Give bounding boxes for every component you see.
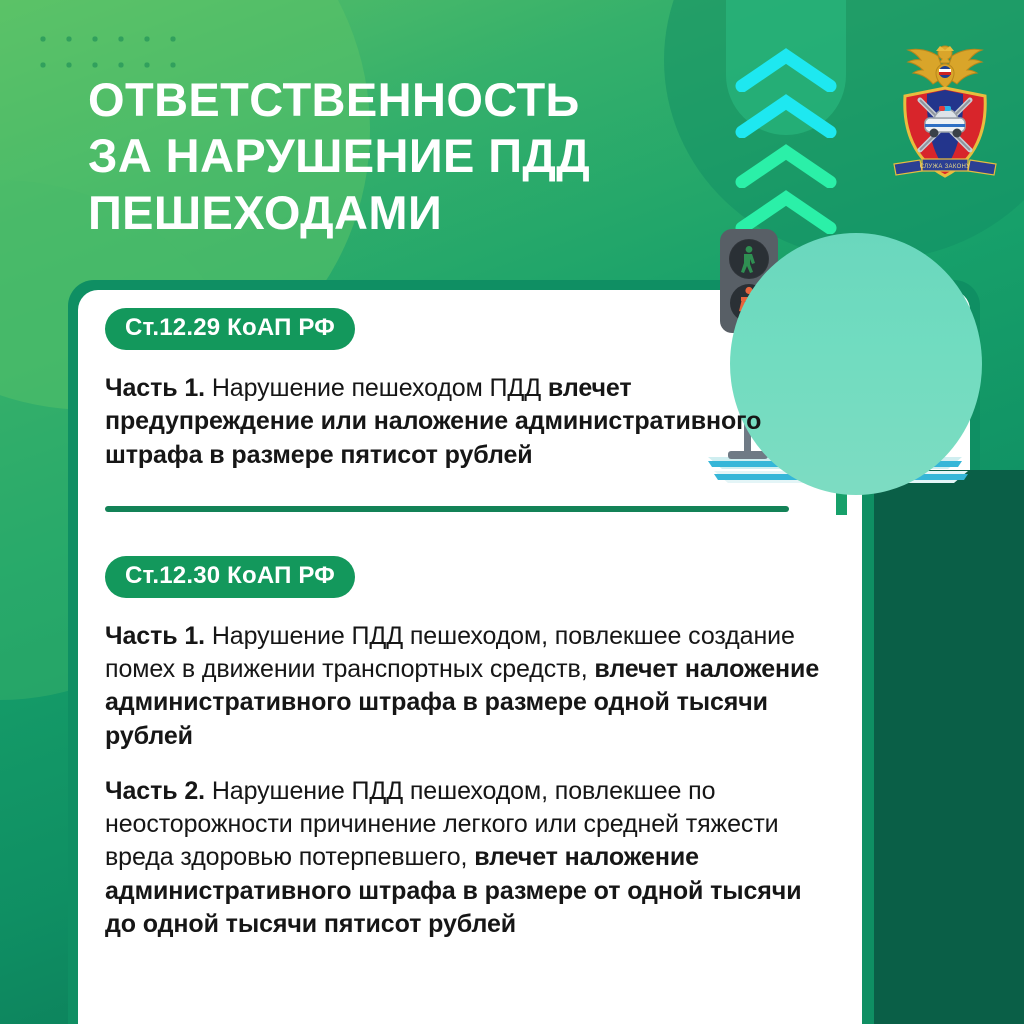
- content-card-notch-edge: [862, 470, 874, 1024]
- paragraph-12-30-part-1: Часть 1. Нарушение ПДД пешеходом, повлек…: [105, 620, 835, 753]
- chevron-up-icon-1: [726, 48, 846, 88]
- article-badge-12-29: Ст.12.29 КоАП РФ: [105, 308, 355, 350]
- svg-text:СЛУЖА ЗАКОНУ: СЛУЖА ЗАКОНУ: [920, 164, 971, 170]
- paragraph-lead: Часть 1.: [105, 622, 205, 650]
- title-line-2: ЗА НАРУШЕНИЕ ПДД: [88, 128, 738, 184]
- title-line-1: ОТВЕТСТВЕННОСТЬ: [88, 72, 738, 128]
- paragraph-12-30-part-2: Часть 2. Нарушение ПДД пешеходом, повлек…: [105, 775, 835, 941]
- content-card-notch: [862, 470, 1024, 1024]
- section-st-12-30: Ст.12.30 КоАП РФ Часть 1. Нарушение ПДД …: [105, 556, 835, 941]
- paragraph-12-29-part-1: Часть 1. Нарушение пешеходом ПДД влечет …: [105, 372, 835, 472]
- page-title: ОТВЕТСТВЕННОСТЬ ЗА НАРУШЕНИЕ ПДД ПЕШЕХОД…: [88, 72, 738, 241]
- paragraph-lead: Часть 1.: [105, 374, 205, 402]
- chevron-up-icon-3: [726, 144, 846, 184]
- gibdd-emblem-icon: СЛУЖА ЗАКОНУ: [884, 38, 1006, 188]
- section-st-12-29: Ст.12.29 КоАП РФ Часть 1. Нарушение пеше…: [105, 308, 835, 472]
- chevron-arrow-group: [726, 48, 846, 238]
- infographic-poster: СЛУЖА ЗАКОНУ: [0, 0, 1024, 1024]
- chevron-up-icon-2: [726, 94, 846, 134]
- paragraph-lead: Часть 2.: [105, 777, 205, 805]
- article-badge-12-30: Ст.12.30 КоАП РФ: [105, 556, 355, 598]
- card-content: Ст.12.29 КоАП РФ Часть 1. Нарушение пеше…: [105, 308, 835, 941]
- green-pedestrian-signal: [730, 240, 768, 278]
- paragraph-normal: Нарушение пешеходом ПДД: [205, 374, 548, 402]
- section-divider: [105, 506, 789, 512]
- title-line-3: ПЕШЕХОДАМИ: [88, 185, 738, 241]
